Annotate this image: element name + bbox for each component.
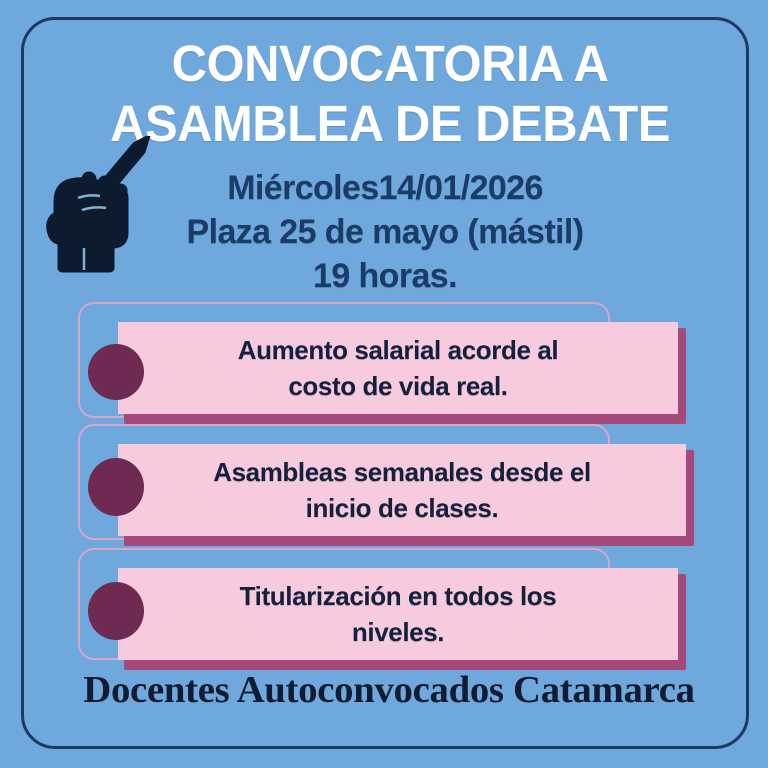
demand-item-3[interactable]: Titularización en todos los niveles. [78,548,658,674]
organization-name: Docentes Autoconvocados Catamarca [55,668,722,712]
demand-item-1[interactable]: Aumento salarial acorde al costo de vida… [78,302,658,428]
demand-item-2[interactable]: Asambleas semanales desde el inicio de c… [78,424,658,550]
demand-text-1: Aumento salarial acorde al costo de vida… [118,332,678,404]
demand-bullet-3 [88,582,144,640]
demand-text-2: Asambleas semanales desde el inicio de c… [118,454,686,526]
page-title: CONVOCATORIA A ASAMBLEA DE DEBATE [83,34,697,154]
demand-text-3: Titularización en todos los niveles. [118,578,678,650]
demand-bullet-2 [88,458,144,516]
demand-card-3[interactable]: Titularización en todos los niveles. [118,568,678,660]
event-details-text: Miércoles14/01/2026 Plaza 25 de mayo (má… [140,166,630,298]
demand-card-2[interactable]: Asambleas semanales desde el inicio de c… [118,444,686,536]
demand-bullet-1 [88,344,144,400]
demand-card-1[interactable]: Aumento salarial acorde al costo de vida… [118,322,678,414]
raised-fist-with-pencil-icon [22,136,152,276]
poster-canvas: CONVOCATORIA A ASAMBLEA DE DEBATE Miérco… [0,0,768,768]
